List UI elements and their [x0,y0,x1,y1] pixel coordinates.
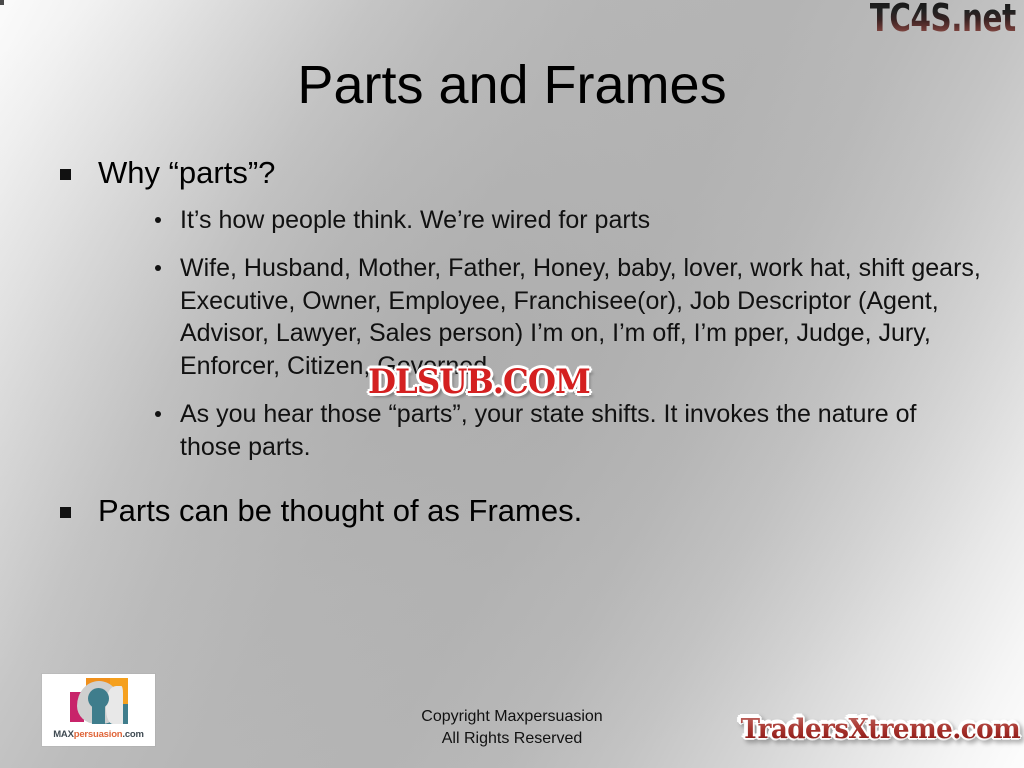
round-bullet-icon [155,217,161,223]
bullet-text: Why “parts”? [98,155,275,190]
square-bullet-icon [60,507,71,518]
bullet-level1-why-parts: Why “parts”? [44,155,984,192]
bullet-text: Parts can be thought of as Frames. [98,493,582,528]
tc4s-logo[interactable]: TC4S.net [870,0,1016,40]
bullet-level1-parts-as-frames: Parts can be thought of as Frames. [44,493,984,530]
slide-title: Parts and Frames [0,56,1024,114]
square-bullet-icon [60,169,71,180]
bullet-text: As you hear those “parts”, your state sh… [180,400,916,461]
bullet-level2-how-people-think: It’s how people think. We’re wired for p… [150,204,984,237]
slide-body: Why “parts”? It’s how people think. We’r… [44,155,984,536]
round-bullet-icon [155,411,161,417]
bullet-level2-state-shifts: As you hear those “parts”, your state sh… [150,398,984,463]
presentation-slide: TC4S.net Parts and Frames Why “parts”? I… [0,0,1024,768]
corner-artifact [0,0,4,5]
round-bullet-icon [155,265,161,271]
bullet-text: It’s how people think. We’re wired for p… [180,206,650,234]
sub-bullet-group: It’s how people think. We’re wired for p… [150,204,984,464]
dlsub-watermark: DLSUB.COM [368,362,590,402]
tradersxtreme-logo[interactable]: TradersXtreme.com [741,714,1020,745]
bullet-text: Wife, Husband, Mother, Father, Honey, ba… [180,254,981,380]
